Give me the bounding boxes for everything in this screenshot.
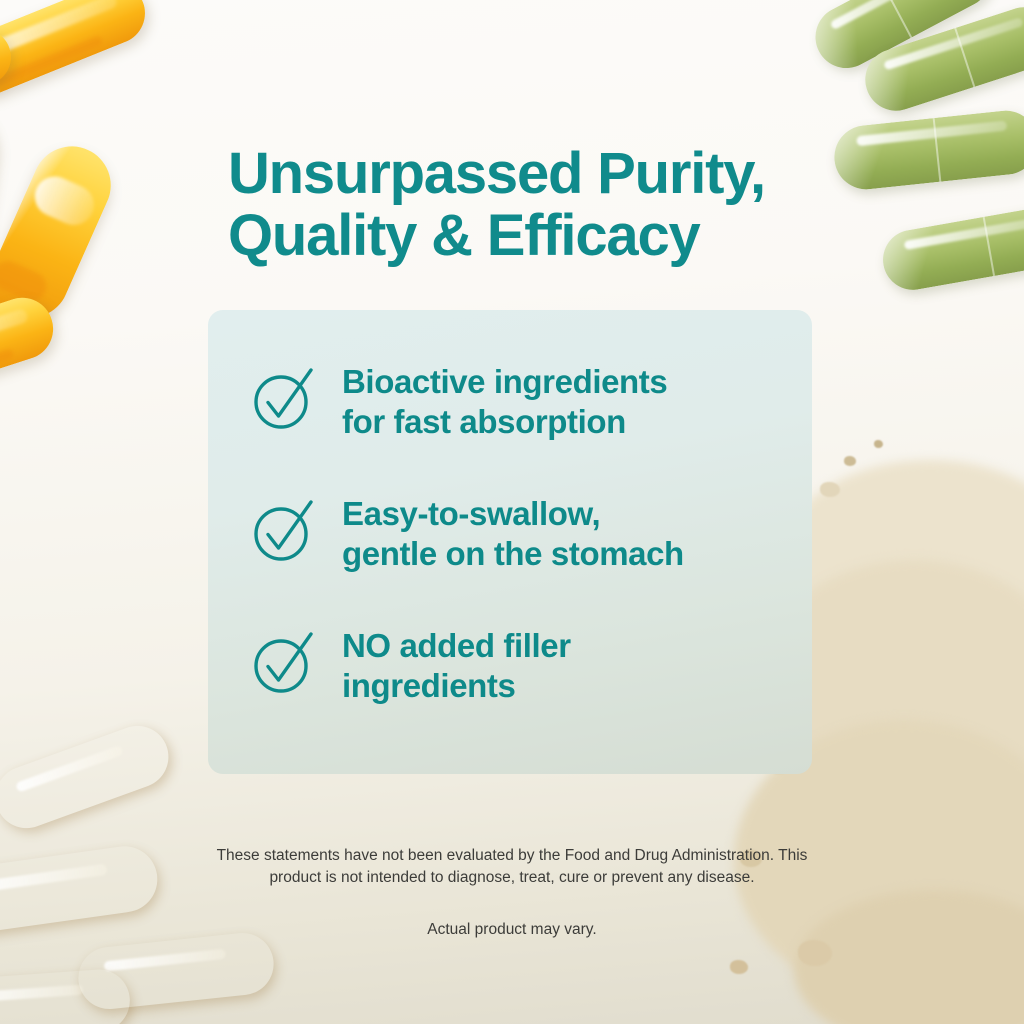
product-variance-note: Actual product may vary.: [212, 919, 812, 941]
check-circle-icon: [248, 622, 320, 703]
headline-line-2: Quality & Efficacy: [228, 205, 808, 267]
decor-golden-softgel-capsules: [0, 0, 240, 410]
benefit-label-2: Easy-to-swallow, gentle on the stomach: [342, 490, 684, 573]
benefit-label-3: NO added filler ingredients: [342, 622, 571, 705]
headline-line-1: Unsurpassed Purity,: [228, 141, 765, 206]
benefit-item-2: Easy-to-swallow, gentle on the stomach: [248, 490, 684, 573]
check-circle-icon: [248, 358, 320, 439]
benefits-card: Bioactive ingredients for fast absorptio…: [208, 310, 812, 774]
benefit-item-1: Bioactive ingredients for fast absorptio…: [248, 358, 667, 441]
page-title: Unsurpassed Purity, Quality & Efficacy: [228, 143, 808, 267]
disclaimer: These statements have not been evaluated…: [212, 845, 812, 941]
benefit-label-1: Bioactive ingredients for fast absorptio…: [342, 358, 667, 441]
fda-disclaimer-text: These statements have not been evaluated…: [217, 847, 808, 886]
check-circle-icon: [248, 490, 320, 571]
benefit-item-3: NO added filler ingredients: [248, 622, 571, 705]
promo-graphic: Unsurpassed Purity, Quality & Efficacy B…: [0, 0, 1024, 1024]
